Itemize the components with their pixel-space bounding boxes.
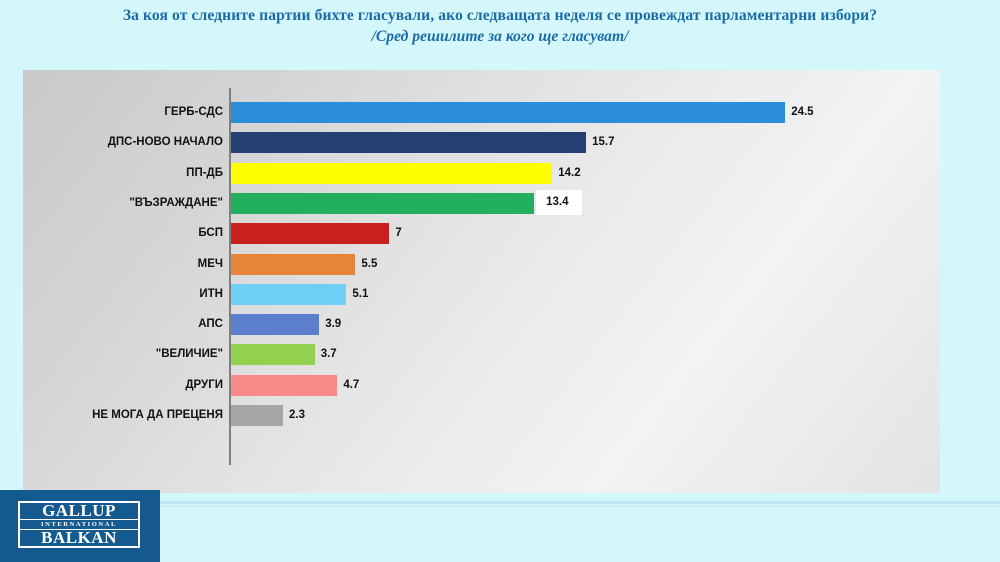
chart-panel: ГЕРБ-СДС24.5ДПС-НОВО НАЧАЛО15.7ПП-ДБ14.2… [23, 70, 940, 493]
page-subtitle: /Сред решилите за кого ще гласуват/ [0, 27, 1000, 46]
bar[interactable] [231, 163, 552, 184]
bar-value-label: 3.9 [325, 314, 341, 335]
footer-divider [160, 501, 1000, 504]
page-title: За коя от следните партии бихте гласувал… [0, 6, 1000, 25]
bar-category-label: ДРУГИ [185, 375, 223, 396]
bar[interactable] [231, 132, 586, 153]
bar-category-label: БСП [198, 223, 223, 244]
bar[interactable] [231, 193, 534, 214]
bar-category-label: НЕ МОГА ДА ПРЕЦЕНЯ [92, 405, 223, 426]
bar-category-label: "ВЪЗРАЖДАНЕ" [129, 193, 223, 214]
chart-title-block: За коя от следните партии бихте гласувал… [0, 6, 1000, 46]
bar-row: АПС3.9 [23, 314, 940, 335]
bar-category-label: ДПС-НОВО НАЧАЛО [108, 132, 223, 153]
bar[interactable] [231, 254, 355, 275]
bar-value-label: 2.3 [289, 405, 305, 426]
bar-category-label: "ВЕЛИЧИЕ" [156, 344, 223, 365]
bar-row: ИТН5.1 [23, 284, 940, 305]
bar-row: НЕ МОГА ДА ПРЕЦЕНЯ2.3 [23, 405, 940, 426]
gallup-logo-bottom: BALKAN [41, 530, 117, 546]
bar-category-label: МЕЧ [198, 254, 223, 275]
bar-value-label: 14.2 [558, 163, 580, 184]
bar-row: "ВЪЗРАЖДАНЕ"13.4 [23, 193, 940, 214]
bar-category-label: ИТН [199, 284, 223, 305]
bar-row: "ВЕЛИЧИЕ"3.7 [23, 344, 940, 365]
bar-category-label: ГЕРБ-СДС [164, 102, 223, 123]
bar-value-label: 13.4 [536, 190, 582, 215]
bar-value-label: 15.7 [592, 132, 614, 153]
bar[interactable] [231, 375, 337, 396]
bar[interactable] [231, 102, 785, 123]
gallup-logo-frame: GALLUP INTERNATIONAL BALKAN [18, 501, 140, 548]
bar-category-label: ПП-ДБ [186, 163, 223, 184]
bar[interactable] [231, 314, 319, 335]
bar-value-label: 5.5 [361, 254, 377, 275]
gallup-logo: GALLUP INTERNATIONAL BALKAN [0, 490, 160, 562]
gallup-logo-top: GALLUP [42, 503, 116, 519]
bar-row: МЕЧ5.5 [23, 254, 940, 275]
bar-row: ДРУГИ4.7 [23, 375, 940, 396]
bar-row: БСП7 [23, 223, 940, 244]
bar-category-label: АПС [198, 314, 223, 335]
footer-divider-secondary [160, 506, 1000, 507]
bar[interactable] [231, 405, 283, 426]
bar-value-label: 5.1 [352, 284, 368, 305]
bar-row: ГЕРБ-СДС24.5 [23, 102, 940, 123]
plot-area: ГЕРБ-СДС24.5ДПС-НОВО НАЧАЛО15.7ПП-ДБ14.2… [23, 70, 940, 493]
bar-value-label: 4.7 [343, 375, 359, 396]
bar[interactable] [231, 223, 389, 244]
bar-row: ДПС-НОВО НАЧАЛО15.7 [23, 132, 940, 153]
bar-row: ПП-ДБ14.2 [23, 163, 940, 184]
bar[interactable] [231, 284, 346, 305]
bar-value-label: 24.5 [791, 102, 813, 123]
bar[interactable] [231, 344, 315, 365]
bar-value-label: 7 [395, 223, 401, 244]
bar-value-label: 3.7 [321, 344, 337, 365]
